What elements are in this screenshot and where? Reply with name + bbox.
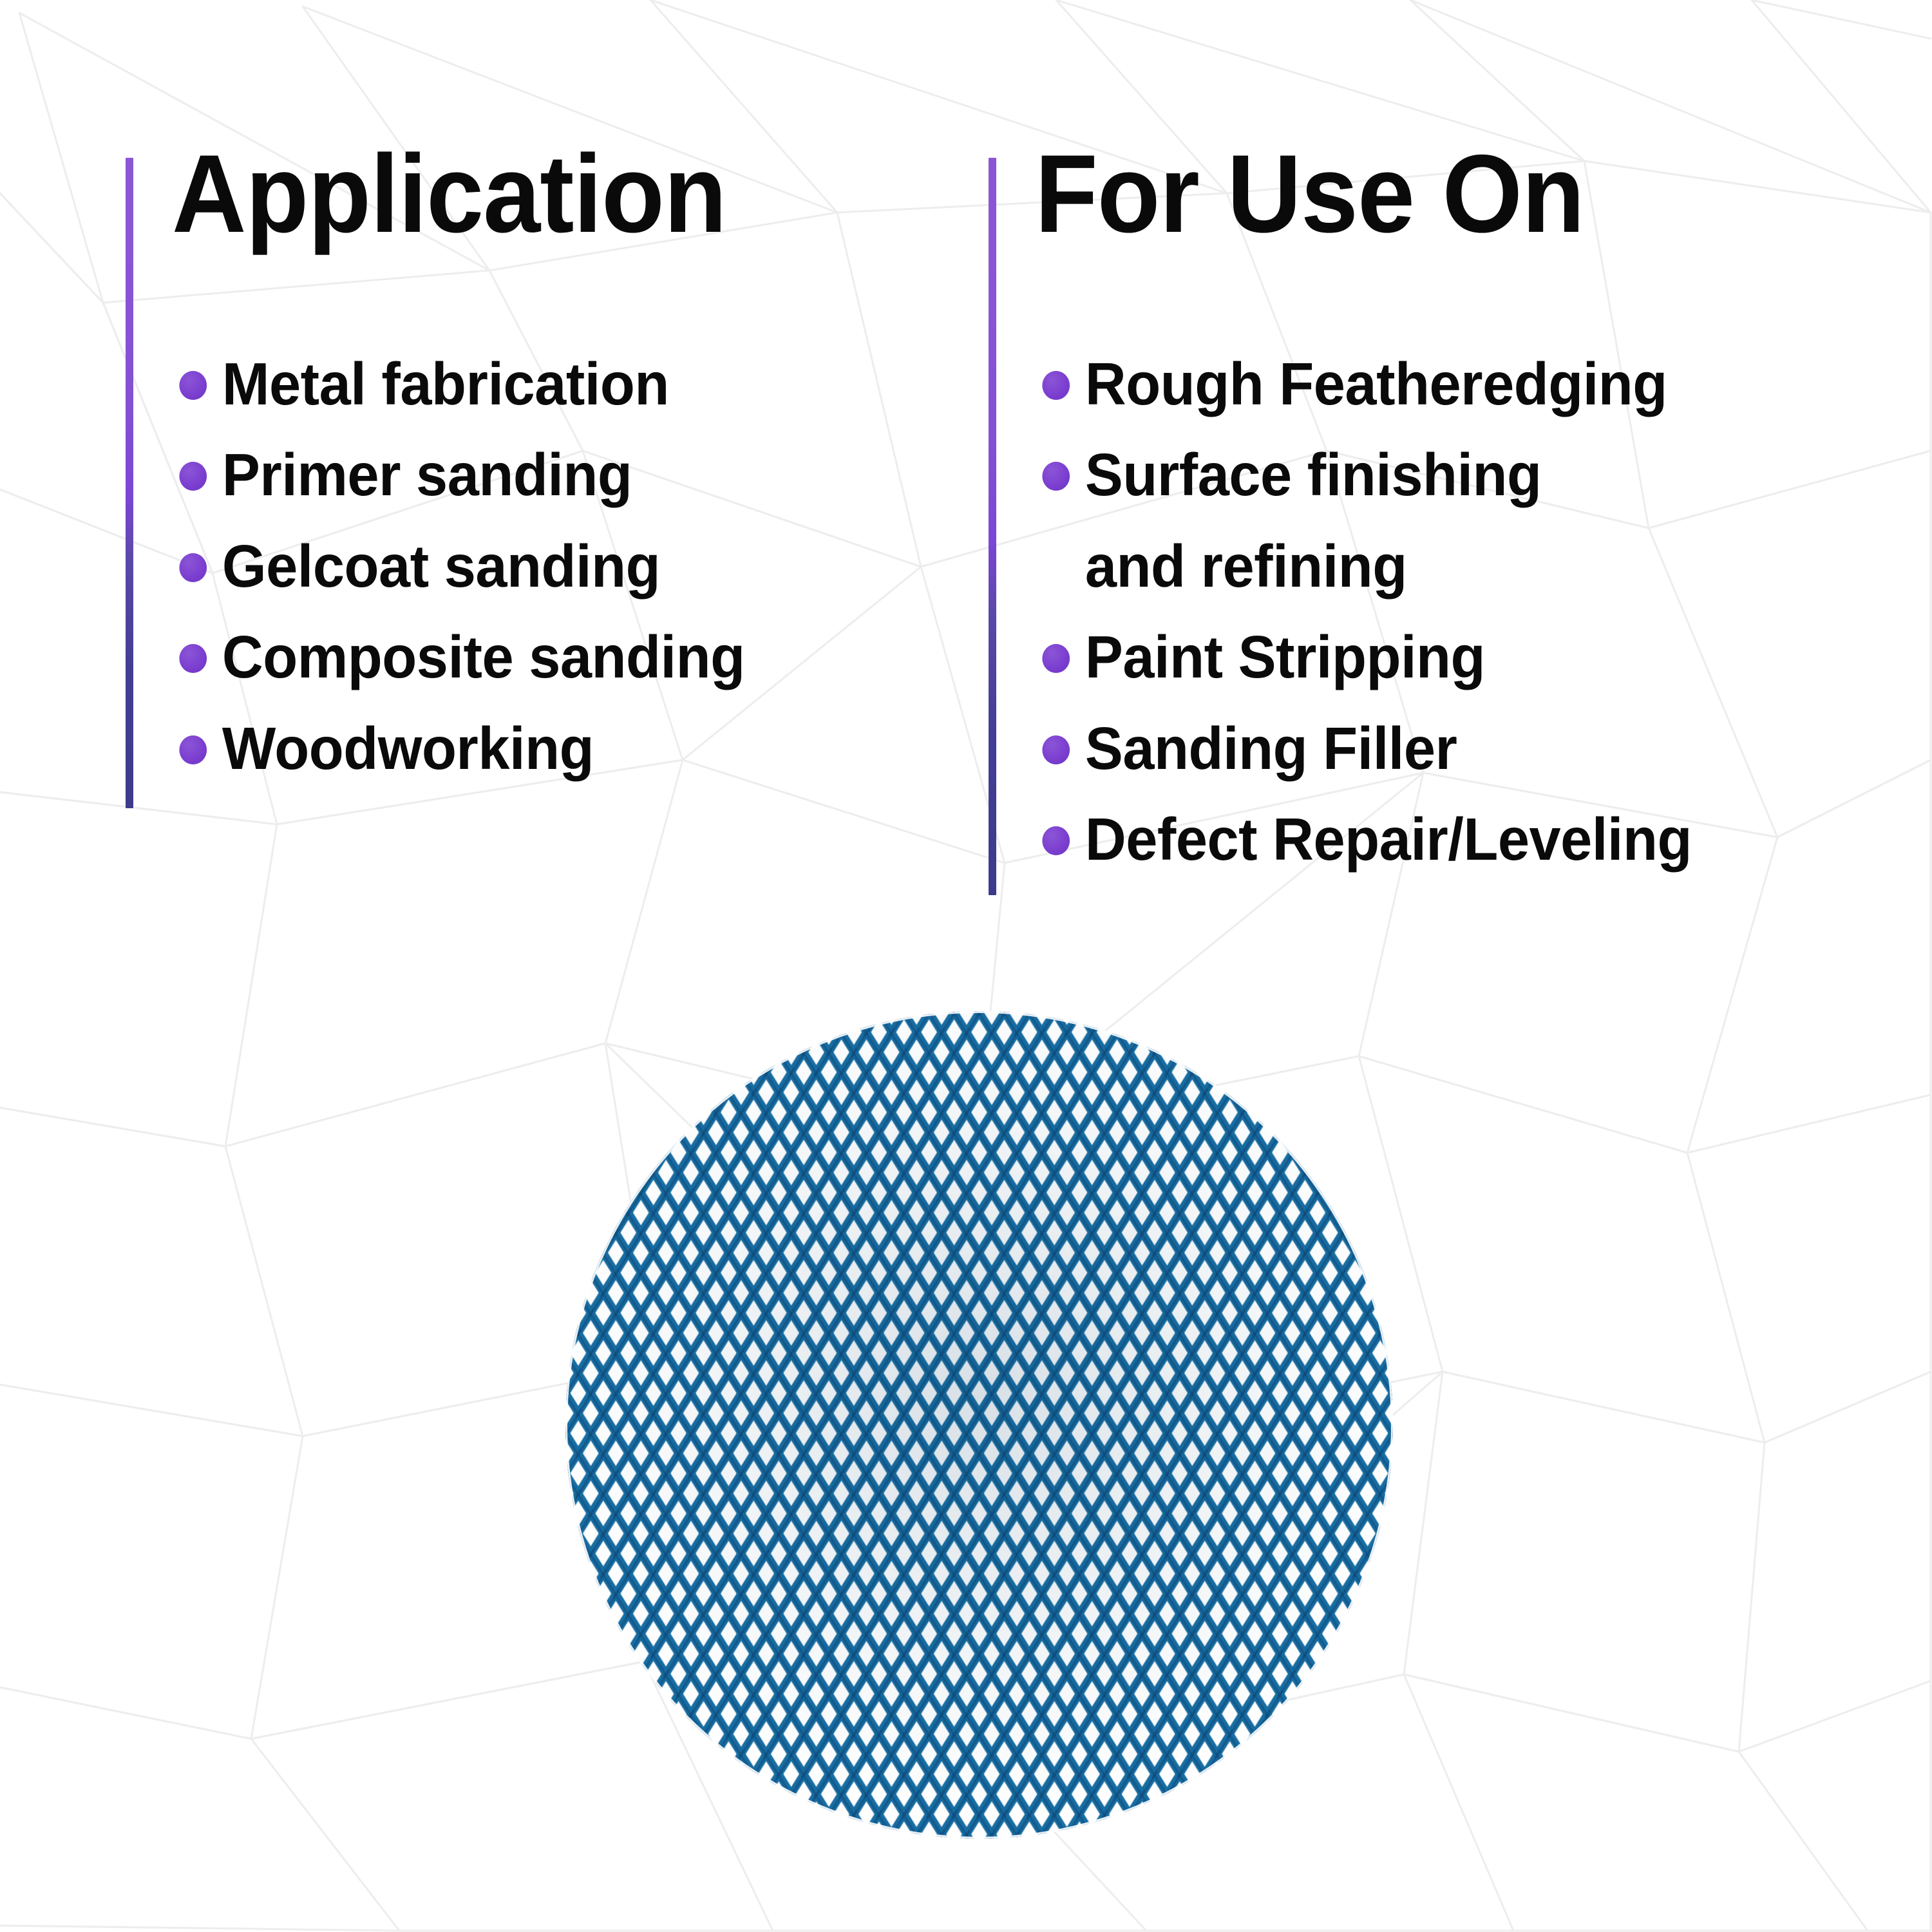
bullet-list-application: Metal fabrication Primer sanding Gelcoat… bbox=[172, 348, 775, 803]
bullet-label-continuation: and refining bbox=[1085, 533, 1407, 600]
list-item-continuation: and refining bbox=[1035, 530, 1692, 603]
bullet-dot-icon bbox=[1042, 644, 1070, 673]
disc-edge-highlight bbox=[565, 1011, 1393, 1839]
bullet-dot-icon bbox=[179, 735, 207, 764]
bullet-label: Rough Featheredging bbox=[1085, 350, 1667, 417]
bullet-dot-icon bbox=[1042, 735, 1070, 764]
bullet-dot-icon bbox=[1042, 371, 1070, 400]
bullet-dot-icon bbox=[179, 553, 207, 582]
bullet-label: Sanding Filler bbox=[1085, 715, 1457, 782]
bullet-dot-icon bbox=[1042, 826, 1070, 855]
bullet-label: Woodworking bbox=[222, 715, 594, 782]
list-item: Paint Stripping bbox=[1035, 621, 1692, 694]
bullet-label: Composite sanding bbox=[222, 623, 745, 690]
list-item: Gelcoat sanding bbox=[172, 530, 745, 603]
bullet-label: Paint Stripping bbox=[1085, 623, 1485, 690]
bullet-dot-icon bbox=[179, 644, 207, 673]
column-divider-left bbox=[126, 158, 133, 808]
heading-for-use-on: For Use On bbox=[1035, 138, 1584, 249]
list-item: Defect Repair/Leveling bbox=[1035, 803, 1692, 876]
list-item: Metal fabrication bbox=[172, 348, 745, 421]
list-item: Surface finishing bbox=[1035, 439, 1692, 511]
bullet-list-for-use-on: Rough Featheredging Surface finishing an… bbox=[1035, 348, 1727, 895]
bullet-label: Surface finishing bbox=[1085, 441, 1542, 508]
infographic-canvas: Application Metal fabrication Primer san… bbox=[0, 0, 1932, 1932]
list-item: Rough Featheredging bbox=[1035, 348, 1692, 421]
abrasive-mesh-disc bbox=[565, 1011, 1393, 1839]
bullet-dot-icon bbox=[179, 462, 207, 491]
list-item: Primer sanding bbox=[172, 439, 745, 511]
bullet-dot-icon bbox=[179, 371, 207, 400]
bullet-label: Metal fabrication bbox=[222, 350, 669, 417]
bullet-label: Gelcoat sanding bbox=[222, 533, 660, 600]
list-item: Composite sanding bbox=[172, 621, 745, 694]
heading-application: Application bbox=[172, 138, 726, 249]
bullet-label: Primer sanding bbox=[222, 441, 632, 508]
list-item: Woodworking bbox=[172, 712, 745, 785]
bullet-label: Defect Repair/Leveling bbox=[1085, 806, 1692, 873]
bullet-dot-icon bbox=[1042, 462, 1070, 491]
column-divider-right bbox=[989, 158, 996, 895]
list-item: Sanding Filler bbox=[1035, 712, 1692, 785]
product-disc-container bbox=[565, 1011, 1393, 1839]
